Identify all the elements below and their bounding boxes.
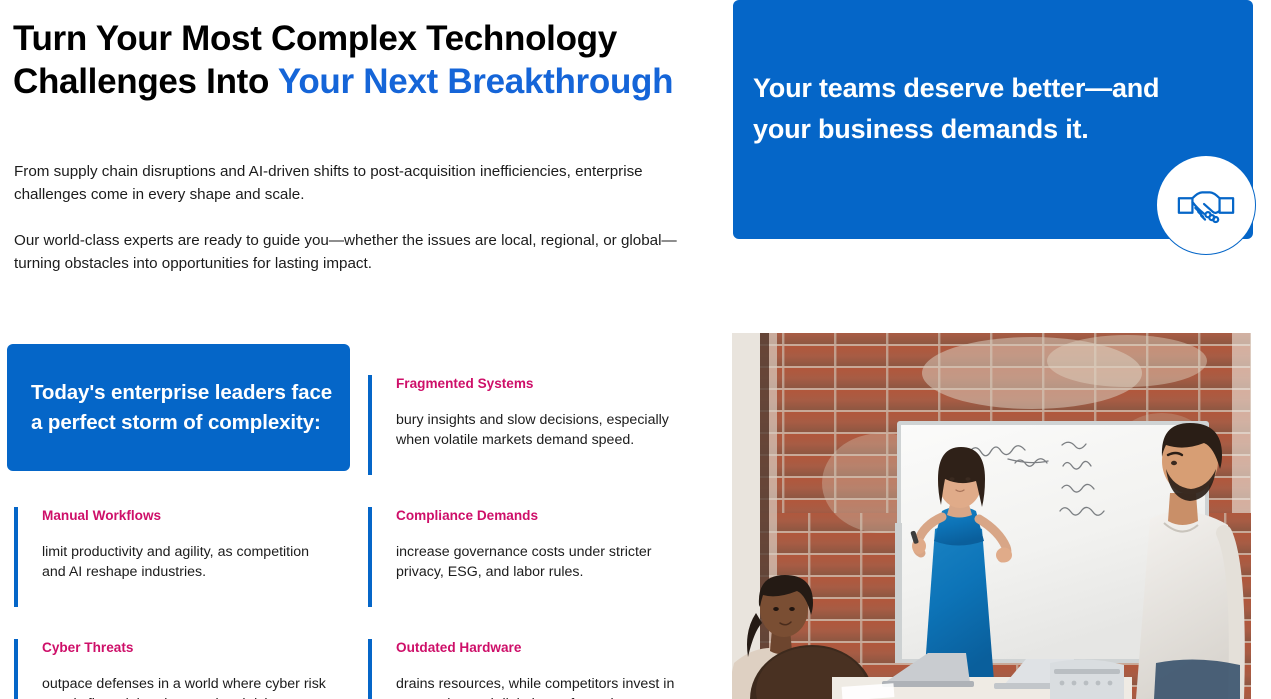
meeting-room-photo bbox=[732, 333, 1251, 699]
challenge-item-cyber-threats: Cyber Threats outpace defenses in a worl… bbox=[14, 639, 334, 699]
challenge-description: outpace defenses in a world where cyber … bbox=[42, 674, 334, 699]
complexity-summary-text: Today's enterprise leaders face a perfec… bbox=[31, 378, 336, 438]
challenge-description: increase governance costs under stricter… bbox=[396, 542, 688, 582]
challenge-item-fragmented-systems: Fragmented Systems bury insights and slo… bbox=[368, 375, 688, 450]
challenge-title: Outdated Hardware bbox=[396, 639, 688, 657]
challenge-title: Manual Workflows bbox=[42, 507, 334, 525]
challenge-description: drains resources, while competitors inve… bbox=[396, 674, 688, 699]
handshake-icon bbox=[1175, 174, 1237, 236]
challenge-title: Fragmented Systems bbox=[396, 375, 688, 393]
page-title: Turn Your Most Complex Technology Challe… bbox=[13, 17, 703, 103]
challenge-title: Cyber Threats bbox=[42, 639, 334, 657]
hero-paragraph-1: From supply chain disruptions and AI-dri… bbox=[14, 160, 686, 206]
page-title-accent: Your Next Breakthrough bbox=[278, 62, 673, 101]
challenge-item-manual-workflows: Manual Workflows limit productivity and … bbox=[14, 507, 334, 582]
marketing-page: Turn Your Most Complex Technology Challe… bbox=[0, 0, 1271, 699]
callout-text: Your teams deserve better—and your busin… bbox=[753, 68, 1223, 150]
accent-bar bbox=[368, 639, 372, 699]
hero-body: From supply chain disruptions and AI-dri… bbox=[14, 160, 686, 275]
accent-bar bbox=[14, 639, 18, 699]
hero-paragraph-2: Our world-class experts are ready to gui… bbox=[14, 229, 686, 275]
accent-bar bbox=[14, 507, 18, 607]
accent-bar bbox=[368, 375, 372, 475]
complexity-summary-box: Today's enterprise leaders face a perfec… bbox=[7, 344, 350, 471]
challenge-description: bury insights and slow decisions, especi… bbox=[396, 410, 688, 450]
challenge-item-compliance-demands: Compliance Demands increase governance c… bbox=[368, 507, 688, 582]
accent-bar bbox=[368, 507, 372, 607]
handshake-badge bbox=[1156, 155, 1256, 255]
challenge-item-outdated-hardware: Outdated Hardware drains resources, whil… bbox=[368, 639, 688, 699]
challenge-title: Compliance Demands bbox=[396, 507, 688, 525]
challenge-description: limit productivity and agility, as compe… bbox=[42, 542, 334, 582]
